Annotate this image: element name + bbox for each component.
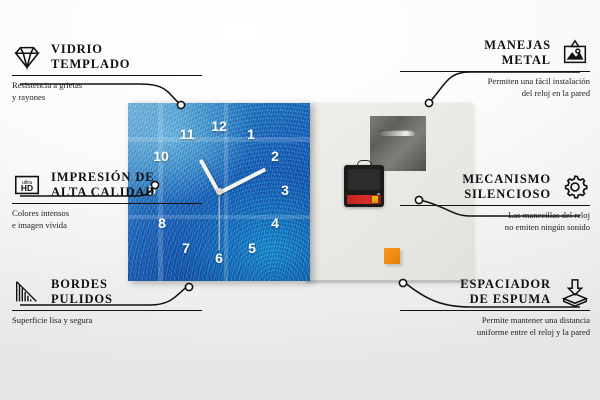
feature-title: BORDES PULIDOS — [51, 277, 113, 307]
clock-numeral-6: 6 — [210, 251, 228, 265]
feature-title: VIDRIO TEMPLADO — [51, 42, 130, 72]
feature-desc-line2: no emiten ningún sonido — [400, 222, 590, 233]
clock-numeral-12: 12 — [210, 119, 228, 133]
divider — [12, 203, 202, 204]
feature-header: ESPACIADOR DE ESPUMA — [400, 277, 590, 307]
clock-numeral-10: 10 — [152, 149, 170, 163]
feature-title: ESPACIADOR DE ESPUMA — [460, 277, 551, 307]
feature-description: Resistencia a grietas y rayones — [12, 80, 202, 103]
metal-hanger-plate — [370, 116, 426, 171]
feature-title-line1: BORDES — [51, 277, 113, 292]
feature-title-line2: METAL — [484, 53, 551, 68]
feature-desc-line2: del reloj en la pared — [400, 88, 590, 99]
feature-title-line1: MECANISMO — [462, 172, 551, 187]
hanger-slot — [379, 130, 415, 136]
feature-title-line2: DE ESPUMA — [460, 292, 551, 307]
feature-header: ultra HD IMPRESIÓN DE ALTA CALIDAD — [12, 170, 202, 200]
feature-title-line1: ESPACIADOR — [460, 277, 551, 292]
infographic-canvas: 12 1 2 3 4 5 6 7 8 9 10 11 — [0, 0, 600, 400]
diamond-icon — [12, 42, 42, 72]
feature-impresion-alta-calidad: ultra HD IMPRESIÓN DE ALTA CALIDAD Color… — [12, 170, 202, 231]
mechanism-body — [348, 169, 380, 190]
feature-header: MECANISMO SILENCIOSO — [400, 172, 590, 202]
feature-title-line2: SILENCIOSO — [462, 187, 551, 202]
feature-desc-line1: Colores intensos — [12, 208, 202, 219]
feature-desc-line1: Las manecillas del reloj — [400, 210, 590, 221]
feature-desc-line1: Permiten una fácil instalación — [400, 76, 590, 87]
second-hand — [218, 193, 219, 251]
feature-bordes-pulidos: BORDES PULIDOS Superficie lisa y segura — [12, 277, 202, 327]
feature-title-line2: PULIDOS — [51, 292, 113, 307]
feature-desc-line2: y rayones — [12, 92, 202, 103]
feature-desc-line1: Resistencia a grietas — [12, 80, 202, 91]
clock-numeral-5: 5 — [243, 241, 261, 255]
feature-description: Las manecillas del reloj no emiten ningú… — [400, 210, 590, 233]
divider — [400, 310, 590, 311]
clock-numeral-2: 2 — [266, 149, 284, 163]
ultra-hd-icon-bottom: HD — [21, 183, 33, 193]
gear-icon — [560, 172, 590, 202]
feature-espaciador-espuma: ESPACIADOR DE ESPUMA Permite mantener un… — [400, 277, 590, 338]
hatched-corner-icon — [12, 277, 42, 307]
foam-spacer — [384, 248, 400, 264]
feature-mecanismo-silencioso: MECANISMO SILENCIOSO Las manecillas del … — [400, 172, 590, 233]
arrow-down-layers-icon — [560, 277, 590, 307]
battery-label — [347, 195, 381, 204]
ultra-hd-icon: ultra HD — [12, 170, 42, 200]
divider — [400, 205, 590, 206]
feature-title: IMPRESIÓN DE ALTA CALIDAD — [51, 170, 155, 200]
mechanism-loop — [357, 160, 372, 169]
feature-title-line1: MANEJAS — [484, 38, 551, 53]
feature-header: VIDRIO TEMPLADO — [12, 42, 202, 72]
feature-description: Permite mantener una distancia uniforme … — [400, 315, 590, 338]
clock-numeral-3: 3 — [276, 183, 294, 197]
feature-title-line2: TEMPLADO — [51, 57, 130, 72]
feature-title: MECANISMO SILENCIOSO — [462, 172, 551, 202]
feature-title-line1: VIDRIO — [51, 42, 130, 57]
feature-title-line1: IMPRESIÓN DE — [51, 170, 155, 185]
divider — [12, 75, 202, 76]
clock-numeral-1: 1 — [242, 127, 260, 141]
feature-description: Colores intensos e imagen vívida — [12, 208, 202, 231]
hand-pivot — [216, 188, 223, 195]
feature-manejas-metal: MANEJAS METAL Permiten una fácil instala… — [400, 38, 590, 99]
feature-vidrio-templado: VIDRIO TEMPLADO Resistencia a grietas y … — [12, 42, 202, 103]
feature-desc-line1: Permite mantener una distancia — [400, 315, 590, 326]
feature-title: MANEJAS METAL — [484, 38, 551, 68]
feature-header: MANEJAS METAL — [400, 38, 590, 68]
picture-frame-icon — [560, 38, 590, 68]
divider — [12, 310, 202, 311]
feature-desc-line1: Superficie lisa y segura — [12, 315, 202, 326]
feature-desc-line2: uniforme entre el reloj y la pared — [400, 327, 590, 338]
clock-numeral-11: 11 — [178, 127, 196, 141]
divider — [400, 71, 590, 72]
clock-numeral-4: 4 — [266, 216, 284, 230]
feature-header: BORDES PULIDOS — [12, 277, 202, 307]
feature-desc-line2: e imagen vívida — [12, 220, 202, 231]
clock-mechanism — [344, 165, 384, 207]
feature-title-line2: ALTA CALIDAD — [51, 185, 155, 200]
feature-description: Superficie lisa y segura — [12, 315, 202, 326]
feature-description: Permiten una fácil instalación del reloj… — [400, 76, 590, 99]
clock-numeral-7: 7 — [177, 241, 195, 255]
